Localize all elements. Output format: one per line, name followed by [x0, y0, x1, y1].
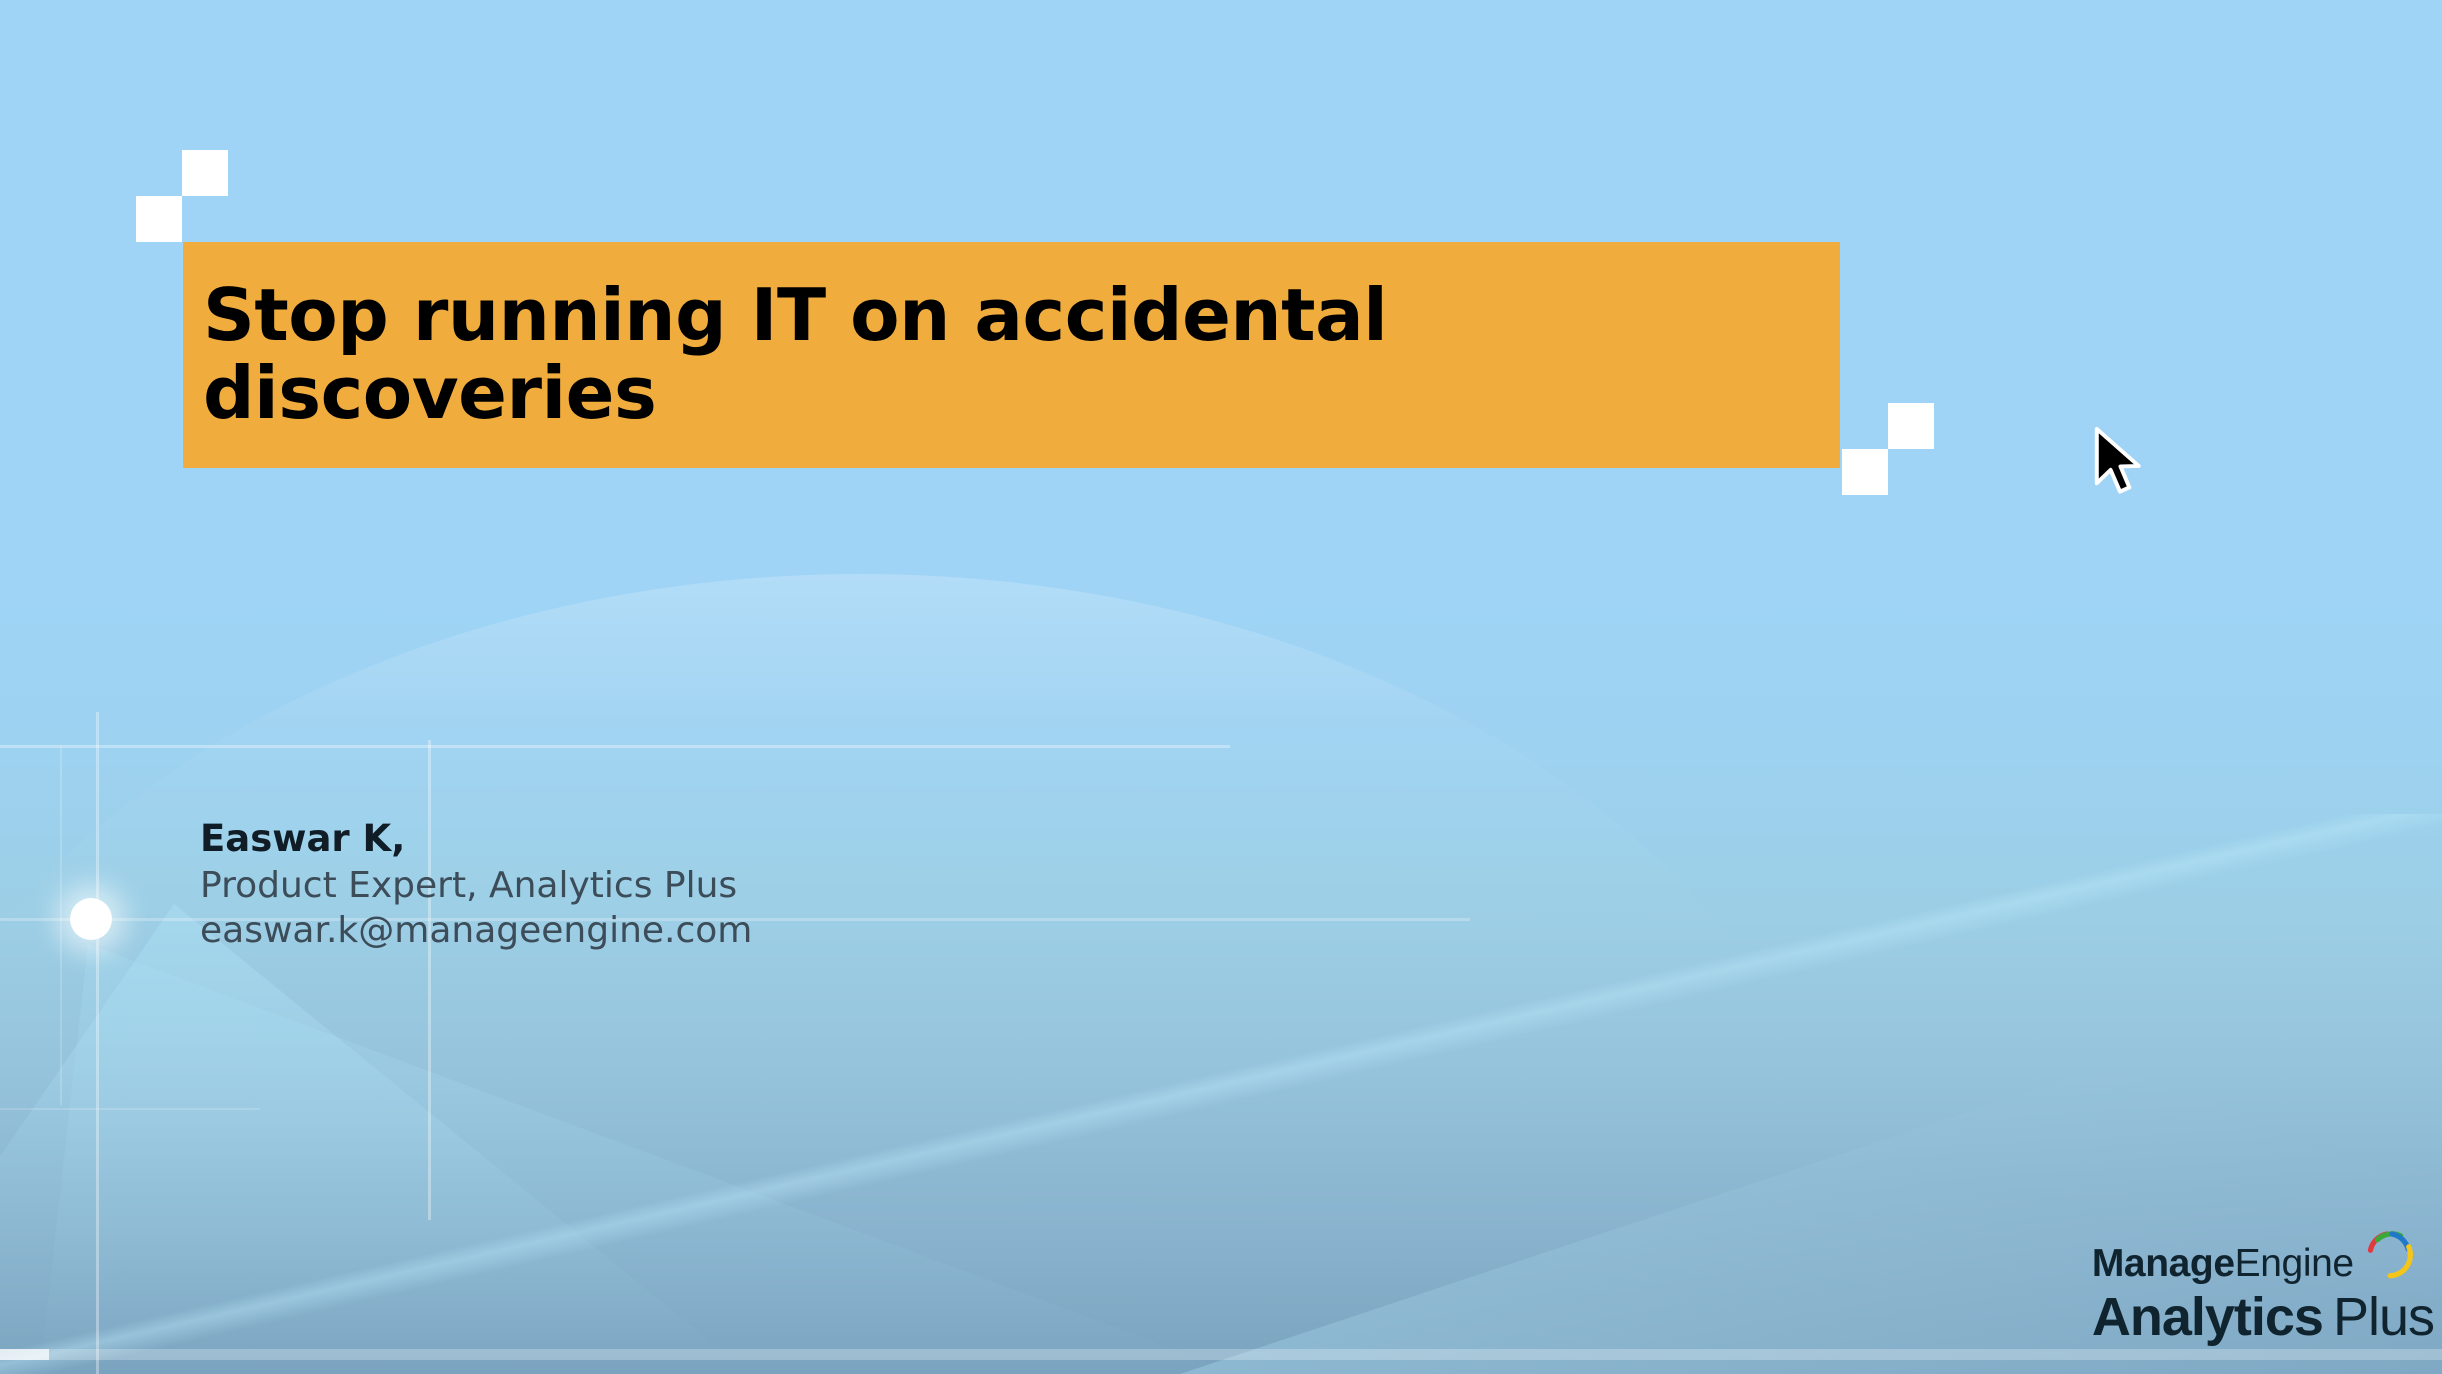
speaker-role: Product Expert, Analytics Plus [200, 863, 752, 908]
logo-product-plus: Plus [2333, 1287, 2434, 1347]
guide-line-vertical-1 [96, 712, 99, 1374]
playback-progress-bar[interactable] [0, 1349, 2442, 1360]
decorative-square-top-left-upper [182, 150, 228, 196]
speaker-email: easwar.k@manageengine.com [200, 908, 752, 953]
slide-title: Stop running IT on accidental discoverie… [203, 277, 1387, 433]
title-banner: Stop running IT on accidental discoverie… [183, 242, 1840, 468]
guide-line-horizontal-1 [0, 745, 1230, 748]
speaker-info-block: Easwar K, Product Expert, Analytics Plus… [200, 816, 752, 953]
decorative-square-top-left-lower [136, 196, 182, 242]
guide-line-vertical-3 [60, 745, 62, 1105]
guide-line-vertical-2 [428, 740, 431, 1220]
logo-product-line: AnalyticsPlus [2092, 1288, 2434, 1346]
background-mountain-left-secondary [40, 944, 1240, 1374]
logo-brand-engine: Engine [2235, 1242, 2354, 1285]
manageengine-logo: ManageEngine AnalyticsPlus [2092, 1243, 2434, 1346]
sun-dot-icon [70, 898, 112, 940]
logo-brand-manage: Manage [2092, 1242, 2235, 1285]
logo-product-analytics: Analytics [2092, 1287, 2323, 1347]
playback-progress-fill [0, 1349, 49, 1360]
logo-brand-line: ManageEngine [2092, 1243, 2434, 1284]
decorative-square-bottom-right-upper [1888, 403, 1934, 449]
mouse-cursor-icon [2088, 424, 2150, 498]
decorative-square-bottom-right-lower [1842, 449, 1888, 495]
manageengine-swoosh-icon [2360, 1227, 2418, 1285]
speaker-name: Easwar K, [200, 816, 752, 863]
background-mountain-left [0, 904, 750, 1374]
guide-line-horizontal-3 [0, 1108, 260, 1110]
presentation-slide: Stop running IT on accidental discoverie… [0, 0, 2442, 1374]
